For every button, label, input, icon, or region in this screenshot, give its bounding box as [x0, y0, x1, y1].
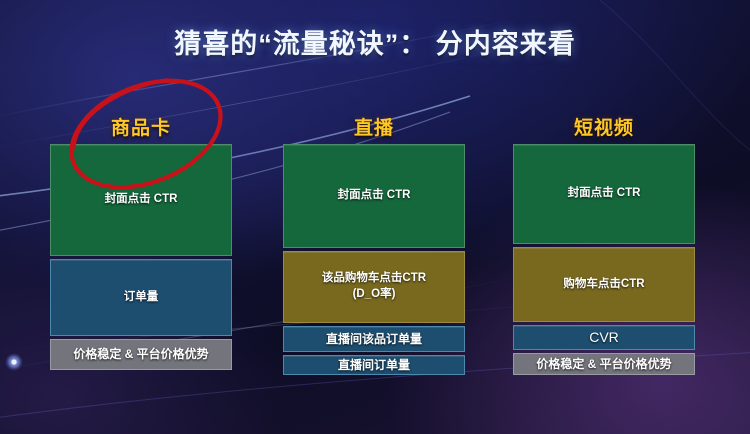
metric-label: 封面点击 CTR [338, 188, 411, 204]
metric-sublabel: (D_O率) [353, 287, 396, 303]
slide-canvas: 猜喜的“流量秘诀”： 分内容来看 商品卡 封面点击 CTR 订单量 价格稳定 &… [0, 0, 750, 434]
metric-block-price-advantage[interactable]: 价格稳定 & 平台价格优势 [50, 339, 232, 370]
column-header-product-card: 商品卡 [50, 113, 232, 140]
metric-label: 价格稳定 & 平台价格优势 [536, 356, 671, 372]
column-header-short-video: 短视频 [513, 113, 695, 140]
metric-label: 直播间订单量 [338, 357, 410, 373]
metric-block-price-advantage[interactable]: 价格稳定 & 平台价格优势 [513, 353, 695, 375]
metric-label: 订单量 [124, 290, 159, 306]
slide-title: 猜喜的“流量秘诀”： 分内容来看 [0, 22, 750, 61]
metric-block-cart-click-ctr[interactable]: 购物车点击CTR [513, 247, 695, 322]
metric-block-cover-ctr[interactable]: 封面点击 CTR [50, 144, 232, 256]
metric-block-live-room-orders[interactable]: 直播间订单量 [283, 355, 465, 375]
metric-label: 购物车点击CTR [563, 277, 644, 293]
metric-block-order-volume[interactable]: 订单量 [50, 259, 232, 336]
column-header-live-stream: 直播 [283, 113, 465, 140]
metric-label: 封面点击 CTR [568, 186, 641, 202]
metric-block-cover-ctr[interactable]: 封面点击 CTR [513, 144, 695, 244]
column-blocks-short-video: 封面点击 CTR 购物车点击CTR CVR 价格稳定 & 平台价格优势 [513, 144, 695, 378]
column-blocks-product-card: 封面点击 CTR 订单量 价格稳定 & 平台价格优势 [50, 144, 232, 373]
metric-block-cover-ctr[interactable]: 封面点击 CTR [283, 144, 465, 248]
metric-label: CVR [589, 328, 619, 347]
metric-block-cart-click-ctr[interactable]: 该品购物车点击CTR (D_O率) [283, 251, 465, 323]
metric-label: 该品购物车点击CTR [322, 271, 426, 287]
metric-label: 直播间该品订单量 [326, 331, 422, 347]
column-blocks-live-stream: 封面点击 CTR 该品购物车点击CTR (D_O率) 直播间该品订单量 直播间订… [283, 144, 465, 378]
metric-label: 封面点击 CTR [105, 192, 178, 208]
metric-label: 价格稳定 & 平台价格优势 [73, 346, 208, 362]
metric-block-live-room-product-orders[interactable]: 直播间该品订单量 [283, 326, 465, 352]
metric-block-cvr[interactable]: CVR [513, 325, 695, 350]
